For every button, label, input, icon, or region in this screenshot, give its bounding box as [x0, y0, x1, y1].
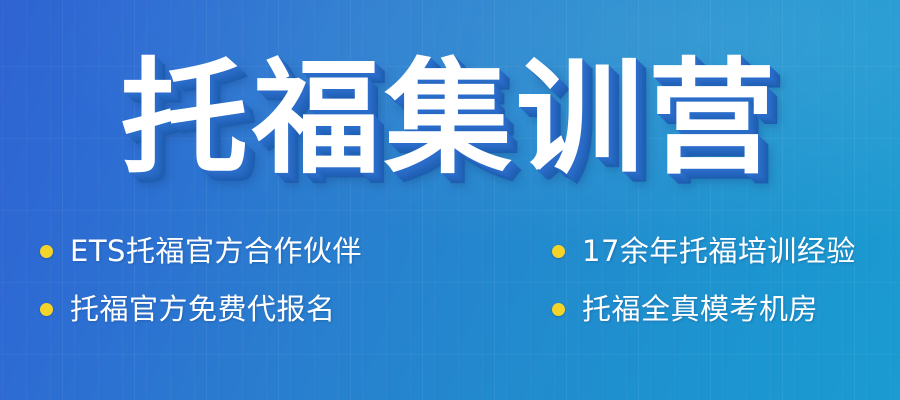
banner-title-container: 托福集训营 — [0, 46, 900, 192]
feature-list-right-column: 17余年托福培训经验 托福全真模考机房 — [0, 232, 856, 328]
bullet-dot-icon — [552, 245, 565, 258]
feature-item: 17余年托福培训经验 — [552, 232, 856, 270]
banner-title: 托福集训营 — [120, 46, 779, 192]
feature-item-label: 17余年托福培训经验 — [582, 232, 856, 270]
bullet-dot-icon — [552, 303, 565, 316]
feature-list: ETS托福官方合作伙伴 托福官方免费代报名 17余年托福培训经验 托福全真模考机… — [0, 232, 900, 328]
promo-banner: 托福集训营 ETS托福官方合作伙伴 托福官方免费代报名 17余年托福培训经验 托… — [0, 0, 900, 400]
feature-item: 托福全真模考机房 — [552, 290, 856, 328]
feature-item-label: 托福全真模考机房 — [582, 290, 818, 328]
